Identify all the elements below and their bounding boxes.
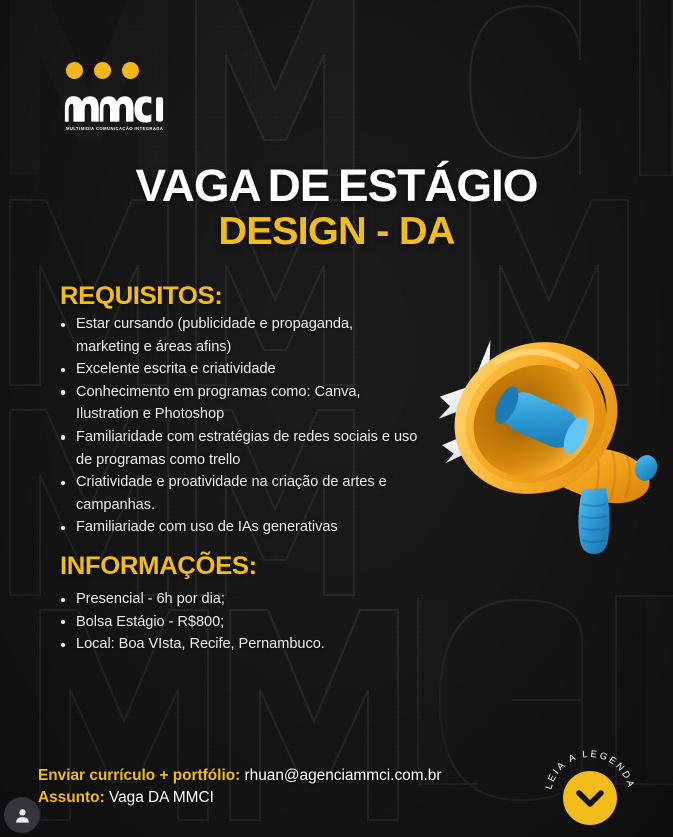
footer-line-email: Enviar currículo + portfólio: rhuan@agen… [38, 765, 442, 787]
footer-line-subject: Assunto: Vaga DA MMCI [38, 787, 442, 809]
logo-wordmark-icon [64, 92, 172, 124]
footer-email-value[interactable]: rhuan@agenciammci.com.br [240, 767, 441, 784]
informacoes-list: Presencial - 6h por dia; Bolsa Estágio -… [58, 588, 478, 656]
requisitos-list: Estar cursando (publicidade e propaganda… [58, 313, 418, 539]
list-item: Presencial - 6h por dia; [58, 588, 478, 611]
section-heading-informacoes: INFORMAÇÕES: [60, 552, 257, 581]
list-item: Estar cursando (publicidade e propaganda… [58, 313, 418, 358]
logo-dots [66, 62, 283, 79]
leia-a-legenda-badge[interactable]: LEIA A LEGENDA [540, 746, 640, 837]
poster-canvas: .wm { fill: none; stroke: #2b2b2b; strok… [0, 0, 673, 837]
badge-circle [563, 771, 617, 825]
page-title-sub: DESIGN - DA [0, 212, 673, 252]
logo-dot-2 [94, 62, 111, 79]
list-item: Criatividade e proatividade na criação d… [58, 471, 418, 516]
list-item: Local: Boa VIsta, Recife, Pernambuco. [58, 633, 478, 656]
logo-tagline: MULTIMIDIA COMUNICAÇÃO INTEGRADA [66, 126, 287, 131]
page-title-main: VAGA DE ESTÁGIO [0, 163, 673, 209]
megaphone-icon [424, 322, 673, 562]
footer-subject-value: Vaga DA MMCI [105, 789, 214, 806]
person-icon [13, 806, 32, 825]
section-heading-requisitos: REQUISITOS: [60, 282, 222, 311]
logo-dot-3 [122, 62, 139, 79]
list-item: Familiaridade com estratégias de redes s… [58, 426, 418, 471]
footer-label-assunto: Assunto: [38, 789, 105, 806]
list-item: Excelente escrita e criatividade [58, 358, 418, 381]
footer-label-enviar: Enviar currículo + portfólio: [38, 767, 240, 784]
logo-dot-1 [66, 62, 83, 79]
avatar[interactable] [4, 797, 40, 833]
list-item: Conhecimento em programas como: Canva, I… [58, 381, 418, 426]
brand-logo: MULTIMIDIA COMUNICAÇÃO INTEGRADA [63, 62, 283, 131]
list-item: Bolsa Estágio - R$800; [58, 611, 478, 634]
footer-contact: Enviar currículo + portfólio: rhuan@agen… [38, 765, 442, 809]
list-item: Familiariade com uso de IAs generativas [58, 516, 418, 539]
